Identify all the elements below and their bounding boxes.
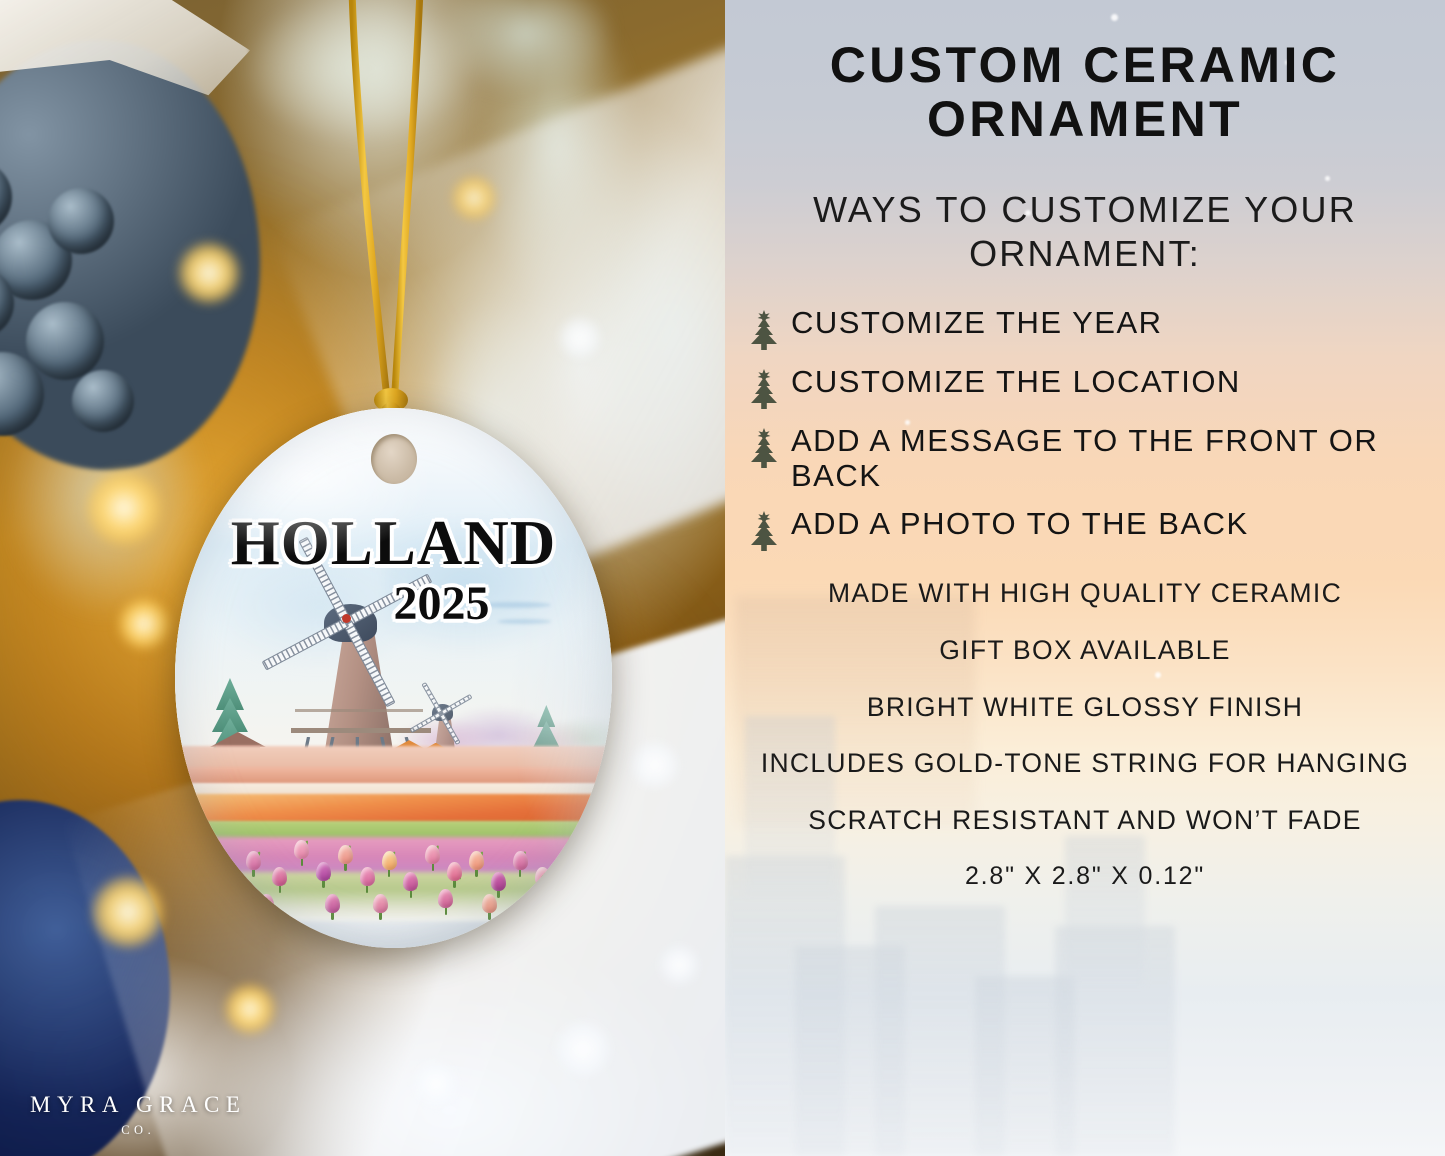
list-item: ADD A PHOTO TO THE BACK	[747, 507, 1431, 552]
list-item-label: ADD A MESSAGE TO THE FRONT OR BACK	[791, 424, 1431, 493]
feature-item: INCLUDES GOLD-TONE STRING FOR HANGING	[739, 748, 1431, 779]
ceramic-ornament[interactable]: HOLLAND 2025	[175, 408, 612, 948]
customization-list: CUSTOMIZE THE YEAR	[739, 306, 1431, 552]
product-photo-panel: HOLLAND 2025 MYRA GRACE CO.	[0, 0, 725, 1156]
christmas-tree-icon	[747, 510, 781, 552]
feature-item: GIFT BOX AVAILABLE	[739, 635, 1431, 666]
bokeh-light	[86, 470, 162, 546]
bokeh-light	[225, 984, 275, 1034]
gold-cord	[0, 0, 725, 470]
product-dimensions: 2.8" X 2.8" X 0.12"	[739, 862, 1431, 891]
list-item: ADD A MESSAGE TO THE FRONT OR BACK	[747, 424, 1431, 493]
bokeh-light	[118, 598, 170, 650]
sparkle-speck	[1111, 14, 1118, 21]
customize-subtitle: WAYS TO CUSTOMIZE YOUR ORNAMENT:	[739, 188, 1431, 276]
christmas-tree-icon	[747, 427, 781, 469]
feature-item: MADE WITH HIGH QUALITY CERAMIC	[739, 578, 1431, 609]
ornament-artwork: HOLLAND 2025	[175, 408, 612, 948]
list-item-label: CUSTOMIZE THE YEAR	[791, 306, 1163, 341]
ornament-year-text: 2025	[175, 580, 612, 628]
bokeh-light	[660, 946, 698, 984]
feature-item: SCRATCH RESISTANT AND WON’T FADE	[739, 805, 1431, 836]
bokeh-light	[632, 742, 678, 788]
product-info-panel: CUSTOM CERAMIC ORNAMENT WAYS TO CUSTOMIZ…	[725, 0, 1445, 1156]
orange-tulip-field	[175, 794, 612, 823]
bokeh-light	[414, 1062, 458, 1106]
christmas-tree-icon	[747, 368, 781, 410]
list-item-label: ADD A PHOTO TO THE BACK	[791, 507, 1249, 542]
feature-item: BRIGHT WHITE GLOSSY FINISH	[739, 692, 1431, 723]
page-title: CUSTOM CERAMIC ORNAMENT	[739, 38, 1431, 146]
list-item: CUSTOMIZE THE LOCATION	[747, 365, 1431, 410]
bokeh-light	[92, 876, 164, 948]
christmas-tree-icon	[747, 309, 781, 351]
ornament-hanging-hole	[371, 434, 417, 484]
bokeh-light	[556, 1022, 610, 1076]
list-item-label: CUSTOMIZE THE LOCATION	[791, 365, 1241, 400]
feature-list: MADE WITH HIGH QUALITY CERAMIC GIFT BOX …	[739, 578, 1431, 891]
brand-suffix: CO.	[30, 1123, 246, 1138]
ornament-location-text: HOLLAND	[175, 513, 612, 573]
list-item: CUSTOMIZE THE YEAR	[747, 306, 1431, 351]
brand-name: MYRA GRACE	[30, 1092, 246, 1118]
product-listing-page: HOLLAND 2025 MYRA GRACE CO.	[0, 0, 1445, 1156]
brand-logo: MYRA GRACE CO.	[30, 1092, 246, 1138]
